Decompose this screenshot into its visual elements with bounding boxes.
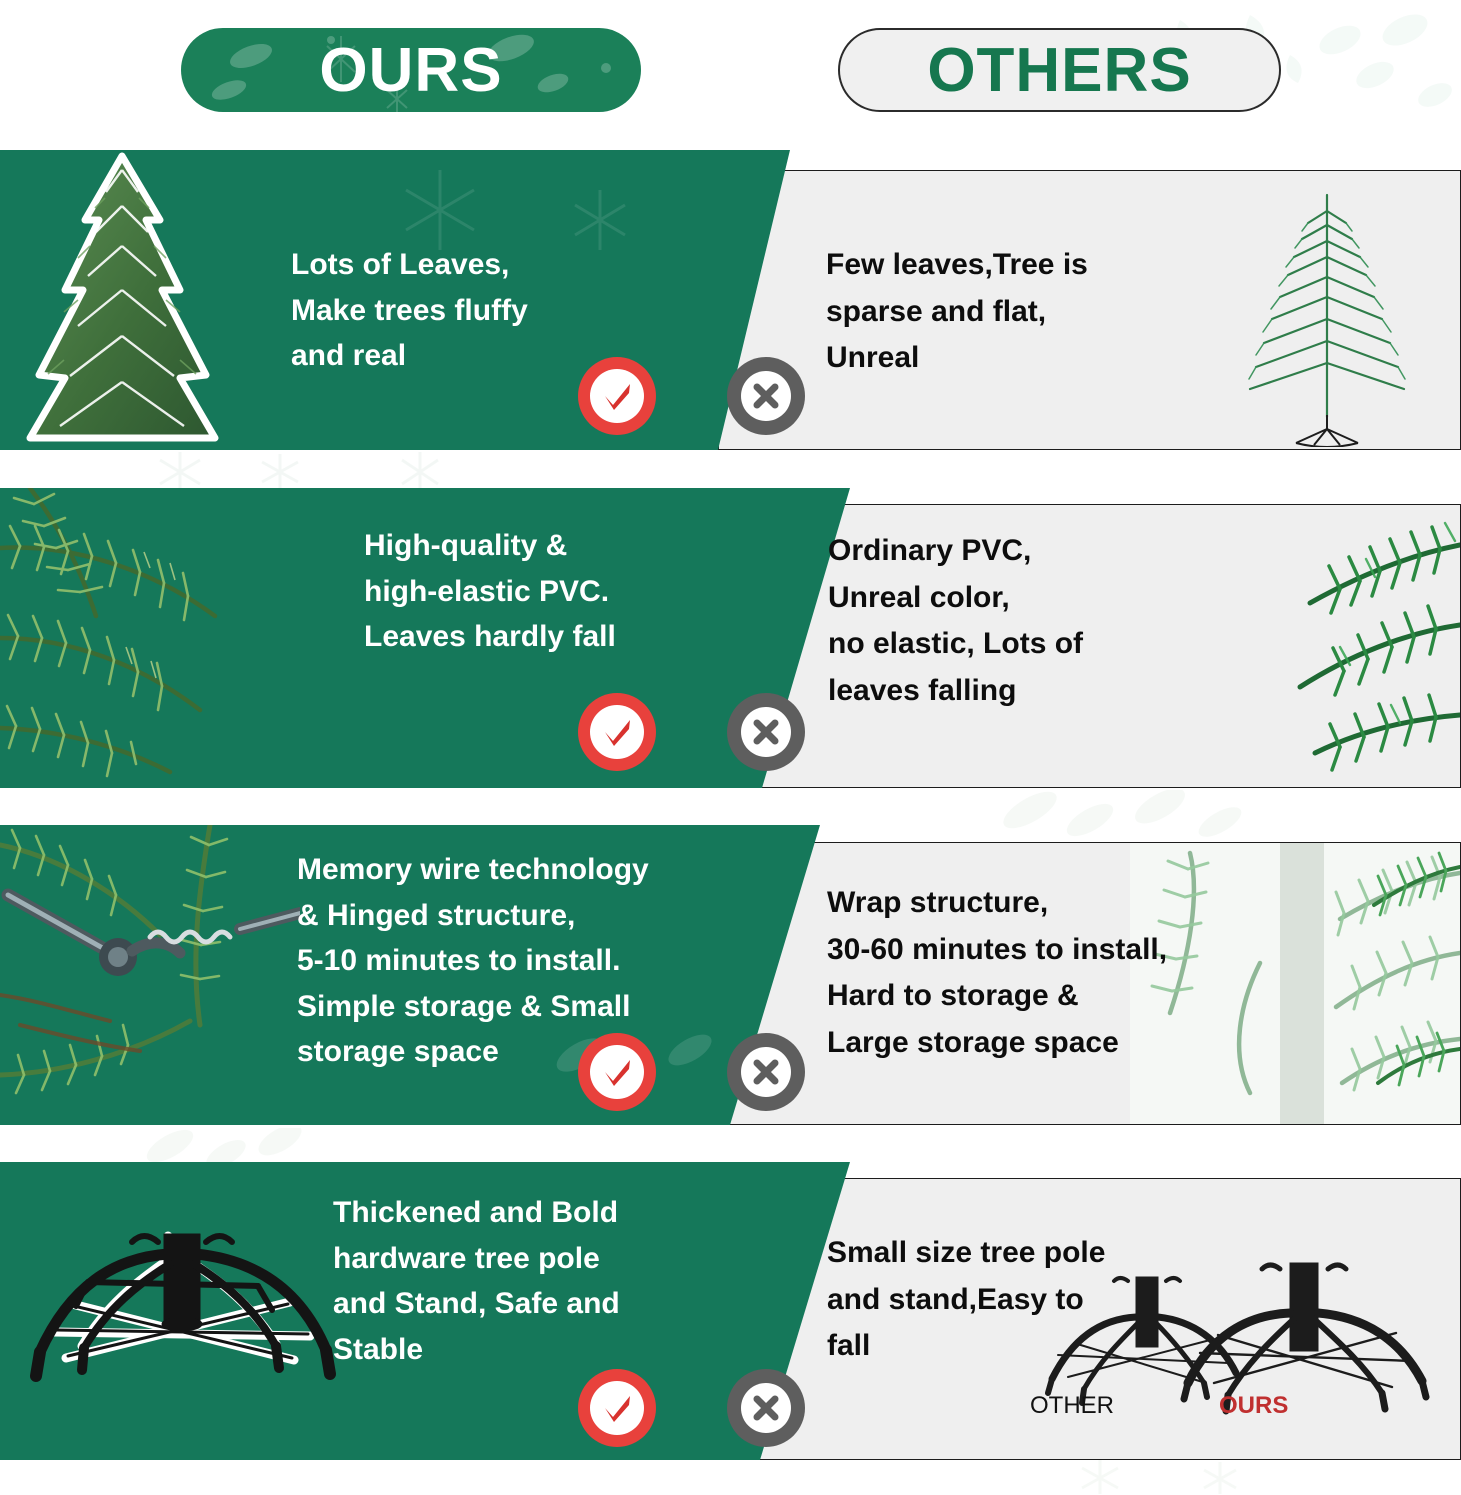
header: OURS OTHERS [0,0,1461,148]
x-circle-icon [727,357,805,435]
check-circle-icon [578,1033,656,1111]
ours-text-stand: Thickened and Bold hardware tree pole an… [333,1190,620,1372]
flat-pvc-branch-closeup-photo [1160,505,1460,788]
hinged-memory-wire-branch-photo [0,825,300,1125]
comparison-row-leaves: Lots of Leaves, Make trees fluffy and re… [0,150,1461,450]
others-text-assembly: Wrap structure, 30-60 minutes to install… [827,880,1167,1066]
comparison-row-material: High-quality & high-elastic PVC. Leaves … [0,488,1461,788]
stand-label-other: OTHER [1030,1392,1114,1420]
x-circle-icon [727,1033,805,1111]
ours-text-material: High-quality & high-elastic PVC. Leaves … [364,523,616,660]
ours-header-label: OURS [319,35,502,106]
others-text-leaves: Few leaves,Tree is sparse and flat, Unre… [826,242,1088,382]
check-circle-icon [578,1369,656,1447]
ours-header-pill: OURS [181,28,641,112]
others-header-pill: OTHERS [838,28,1281,112]
full-christmas-tree-dense-photo [10,150,235,450]
wrapped-branch-pole-photo [1130,843,1460,1125]
check-circle-icon [578,357,656,435]
snowflake-watermark-left [120,452,640,492]
realistic-pine-branch-closeup-photo [0,488,340,788]
others-text-material: Ordinary PVC, Unreal color, no elastic, … [828,528,1083,714]
ours-text-leaves: Lots of Leaves, Make trees fluffy and re… [291,242,528,379]
check-circle-icon [578,693,656,771]
x-circle-icon [727,1369,805,1447]
others-header-label: OTHERS [927,35,1191,106]
snowflake-watermark-bottom [1040,1460,1300,1495]
x-circle-icon [727,693,805,771]
others-text-stand: Small size tree pole and stand,Easy to f… [827,1230,1105,1370]
sparse-christmas-tree-photo [1222,177,1432,447]
comparison-row-assembly: Memory wire technology & Hinged structur… [0,825,1461,1125]
heavy-duty-metal-tree-stand-photo [18,1224,338,1424]
stand-label-ours: OURS [1219,1392,1288,1420]
